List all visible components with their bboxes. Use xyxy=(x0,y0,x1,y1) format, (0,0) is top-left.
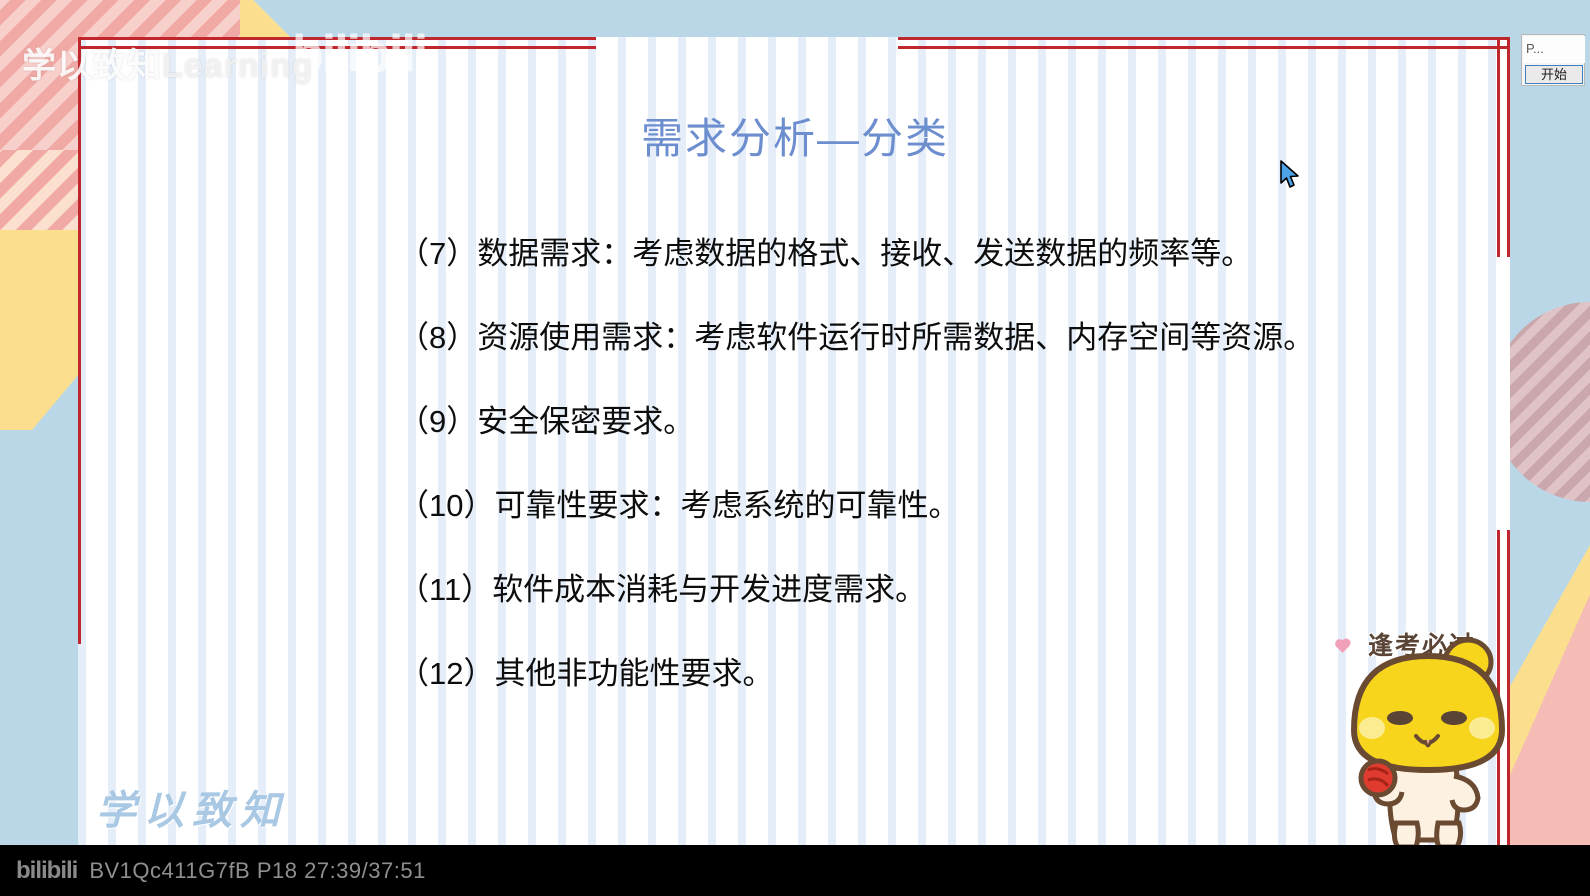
bullet-number: （10） xyxy=(398,488,494,523)
channel-watermark-cn: 学以致知 xyxy=(22,47,162,85)
list-item: （9）安全保密要求。 xyxy=(398,406,1458,437)
channel-watermark-en: Learning xyxy=(162,47,314,85)
bullet-text: 资源使用需求：考虑软件运行时所需数据、内存空间等资源。 xyxy=(477,320,1314,355)
frame-top-right-line-1 xyxy=(898,37,1510,40)
slide-bullet-list: （7）数据需求：考虑数据的格式、接收、发送数据的频率等。 （8）资源使用需求：考… xyxy=(398,238,1458,742)
bilibili-logo: bilibili xyxy=(16,857,77,885)
bullet-text: 数据需求：考虑数据的格式、接收、发送数据的频率等。 xyxy=(477,236,1252,271)
bullet-number: （8） xyxy=(398,320,477,355)
bullet-text: 可靠性要求：考虑系统的可靠性。 xyxy=(494,488,959,523)
list-item: （8）资源使用需求：考虑软件运行时所需数据、内存空间等资源。 xyxy=(398,322,1458,353)
bullet-number: （12） xyxy=(398,656,494,691)
list-item: （12）其他非功能性要求。 xyxy=(398,658,1458,689)
list-item: （10）可靠性要求：考虑系统的可靠性。 xyxy=(398,490,1458,521)
list-item: （7）数据需求：考虑数据的格式、接收、发送数据的频率等。 xyxy=(398,238,1458,269)
popup-thumbnail: P... xyxy=(1523,36,1585,63)
player-bottom-bar: bilibili BV1Qc411G7fB P18 27:39/37:51 xyxy=(0,845,1590,896)
mouse-arrow-icon xyxy=(1279,160,1301,190)
bullet-number: （11） xyxy=(398,572,492,607)
bullet-number: （9） xyxy=(398,404,477,439)
list-item: （11）软件成本消耗与开发进度需求。 xyxy=(398,574,1458,605)
screen-recorder-popup[interactable]: P... 开始 xyxy=(1521,34,1585,86)
channel-watermark: 学以致知Learning xyxy=(22,38,314,87)
screen-root: 需求分析—分类 （7）数据需求：考虑数据的格式、接收、发送数据的频率等。 （8）… xyxy=(0,0,1590,896)
bullet-number: （7） xyxy=(398,236,477,271)
video-info-text: BV1Qc411G7fB P18 27:39/37:51 xyxy=(89,858,426,884)
bullet-text: 安全保密要求。 xyxy=(477,404,694,439)
slide-title: 需求分析—分类 xyxy=(0,105,1590,166)
calligraphy-watermark: 学以致知 xyxy=(96,778,288,836)
start-button[interactable]: 开始 xyxy=(1525,65,1583,84)
bullet-text: 软件成本消耗与开发进度需求。 xyxy=(492,572,926,607)
frame-top-right-line-2 xyxy=(898,46,1510,49)
video-player-viewport[interactable]: 需求分析—分类 （7）数据需求：考虑数据的格式、接收、发送数据的频率等。 （8）… xyxy=(0,0,1590,845)
yellow-bear-mascot-icon xyxy=(1330,618,1520,845)
bullet-text: 其他非功能性要求。 xyxy=(494,656,773,691)
